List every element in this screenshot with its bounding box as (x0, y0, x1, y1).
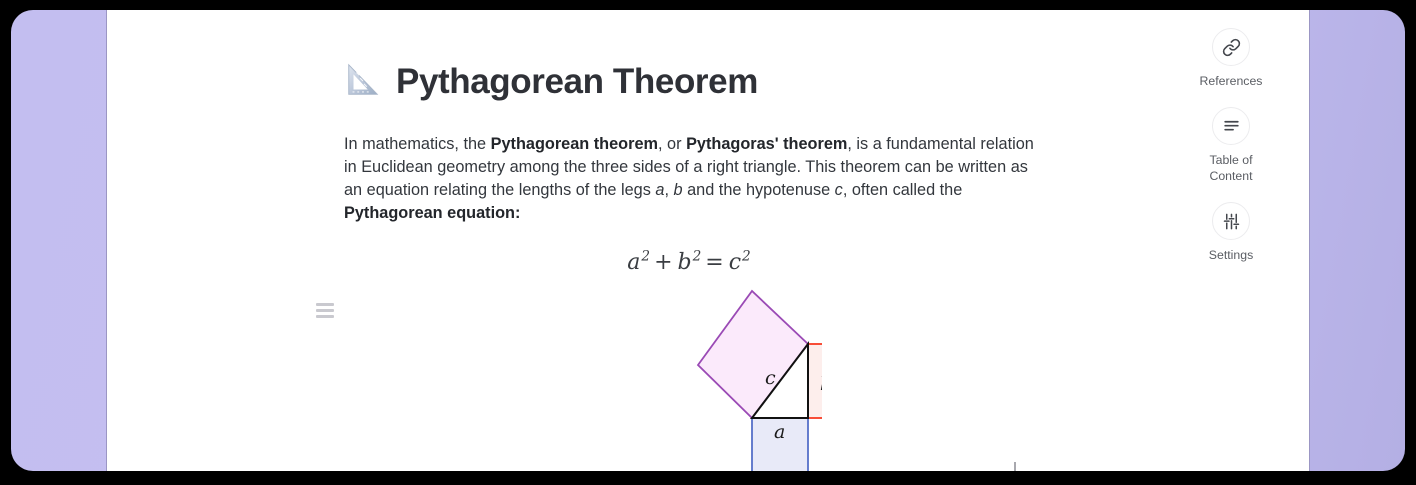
label-b: b (820, 373, 822, 395)
scroll-caret (1014, 462, 1016, 471)
label-a: a (774, 421, 785, 443)
paragraph-segment-bold: Pythagorean equation: (344, 204, 520, 222)
paragraph-segment-italic: b (674, 181, 683, 199)
drag-handle-icon[interactable] (316, 298, 340, 322)
settings-icon-button[interactable] (1212, 202, 1250, 240)
link-icon (1222, 38, 1241, 57)
paragraph-segment: and the hypotenuse (683, 181, 835, 199)
intro-paragraph: In mathematics, the Pythagorean theorem,… (344, 133, 1034, 225)
app-window: Pythagorean Theorem In mathematics, the … (11, 10, 1405, 471)
drag-handle-line (316, 309, 334, 312)
paragraph-segment-bold: Pythagoras' theorem (686, 135, 847, 153)
paragraph-segment: In mathematics, the (344, 135, 491, 153)
tool-rail-label-table-of-content: Table of Content (1199, 152, 1263, 184)
triangular-ruler-icon (344, 62, 382, 100)
paragraph-segment: , often called the (843, 181, 962, 199)
figure-container: c b a (562, 240, 822, 471)
paragraph-segment: , or (658, 135, 686, 153)
screenshot-root: Pythagorean Theorem In mathematics, the … (0, 0, 1416, 485)
tool-rail-item-settings[interactable]: Settings (1181, 202, 1281, 263)
tool-rail-label-references: References (1199, 73, 1263, 89)
tool-rail-label-settings: Settings (1199, 247, 1263, 263)
paragraph-segment-italic: c (835, 181, 843, 199)
pythagorean-theorem-diagram: c b a (562, 240, 822, 471)
tool-rail-item-references[interactable]: References (1181, 28, 1281, 89)
paragraph-segment: , (664, 181, 673, 199)
sliders-icon (1222, 212, 1241, 231)
references-icon-button[interactable] (1212, 28, 1250, 66)
document-page: Pythagorean Theorem In mathematics, the … (106, 10, 1310, 471)
page-title: Pythagorean Theorem (344, 54, 1044, 108)
drag-handle-line (316, 303, 334, 306)
label-c: c (765, 367, 776, 389)
table-of-content-icon-button[interactable] (1212, 107, 1250, 145)
list-icon (1222, 117, 1241, 136)
drag-handle-line (316, 315, 334, 318)
paragraph-segment-bold: Pythagorean theorem (491, 135, 658, 153)
tool-rail-item-table-of-content[interactable]: Table of Content (1181, 107, 1281, 184)
page-title-text: Pythagorean Theorem (396, 64, 758, 99)
tool-rail: References Table of Content (1175, 28, 1287, 263)
